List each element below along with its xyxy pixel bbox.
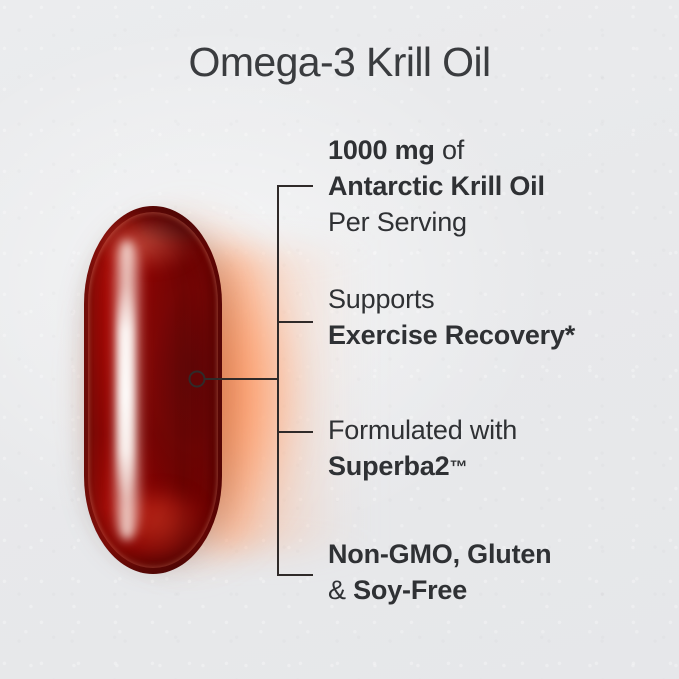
callout-dose-line-2: Antarctic Krill Oil: [328, 168, 545, 204]
page-title: Omega-3 Krill Oil: [0, 38, 679, 86]
callout-free-from-ampersand: &: [328, 575, 353, 605]
capsule-top-sheen: [106, 222, 198, 272]
callout-free-from-soy: Soy-Free: [353, 575, 467, 605]
product-infographic: Omega-3 Krill Oil: [0, 0, 679, 679]
callout-benefit-line-1: Supports: [328, 281, 575, 317]
callout-dose-amount: 1000 mg: [328, 135, 442, 165]
callout-free-from: Non-GMO, Gluten & Soy-Free: [328, 536, 551, 608]
callout-dose-line-3: Per Serving: [328, 204, 545, 240]
softgel-capsule-icon: [84, 206, 222, 574]
callout-ingredient-brand: Superba2: [328, 451, 449, 481]
callout-ingredient-line-2: Superba2™: [328, 448, 517, 485]
capsule-image: [60, 190, 290, 590]
capsule-top-shading: [136, 206, 222, 240]
callout-benefit: Supports Exercise Recovery*: [328, 281, 575, 353]
callout-dose-line-1: 1000 mg of: [328, 132, 545, 168]
callout-ingredient-line-1: Formulated with: [328, 412, 517, 448]
capsule-specular-highlight-core: [118, 284, 133, 499]
callout-benefit-line-2: Exercise Recovery*: [328, 317, 575, 353]
capsule-bottom-bloom: [120, 492, 204, 564]
callout-free-from-line-2: & Soy-Free: [328, 572, 551, 608]
trademark-symbol-icon: ™: [449, 457, 467, 477]
capsule-specular-highlight: [110, 240, 144, 540]
callout-dose: 1000 mg of Antarctic Krill Oil Per Servi…: [328, 132, 545, 240]
callout-dose-of: of: [442, 135, 464, 165]
callout-free-from-line-1: Non-GMO, Gluten: [328, 536, 551, 572]
capsule-rim-highlight: [88, 212, 218, 568]
callout-ingredient: Formulated with Superba2™: [328, 412, 517, 485]
